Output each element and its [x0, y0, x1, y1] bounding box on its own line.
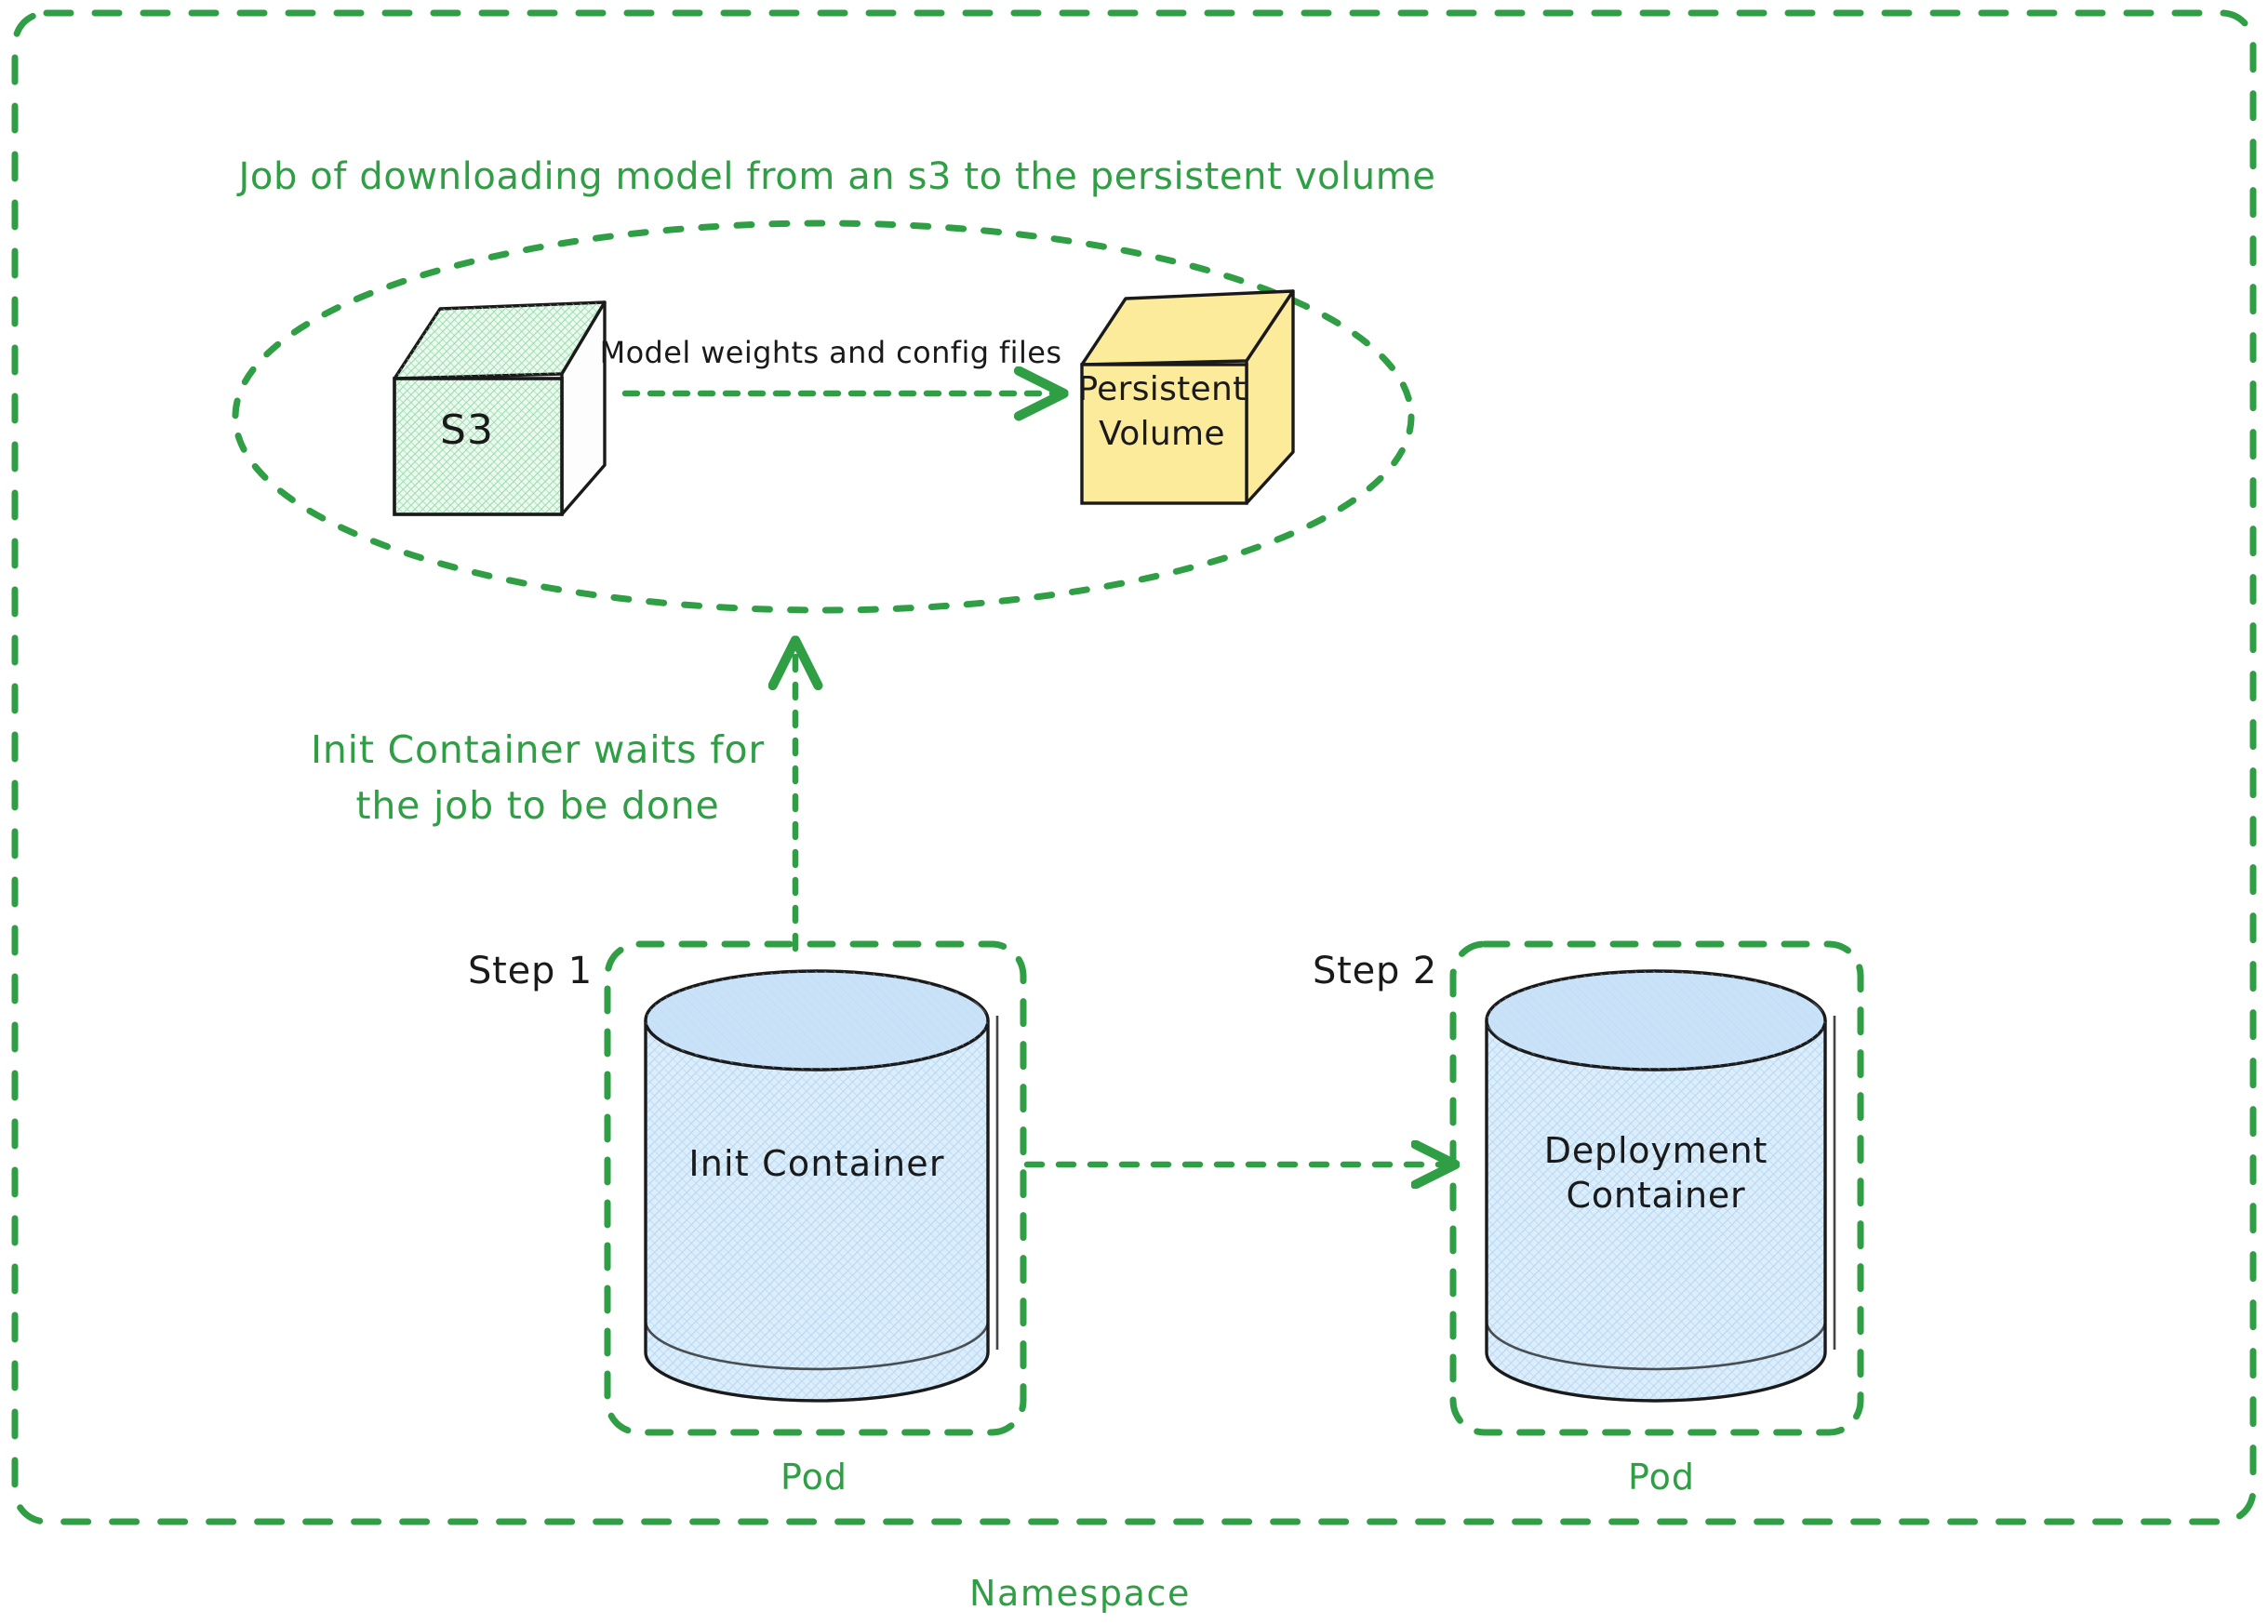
deployment-container-label-line2: Container — [1567, 1175, 1746, 1216]
init-container-cylinder[interactable]: Init Container — [646, 971, 997, 1401]
init-container-label: Init Container — [688, 1143, 944, 1184]
deployment-container-label-line1: Deployment — [1544, 1130, 1768, 1171]
pod-1-step-label: Step 1 — [468, 950, 593, 992]
namespace-label: Namespace — [969, 1573, 1191, 1614]
wait-edge-label-line1: Init Container waits for — [311, 727, 765, 772]
job-edge-label: Model weights and config files — [600, 335, 1062, 370]
pv-cube-label-line2: Volume — [1099, 415, 1225, 453]
job-group-title: Job of downloading model from an s3 to t… — [236, 155, 1436, 198]
pod-2-label: Pod — [1628, 1457, 1695, 1498]
deployment-container-top-hatch — [1487, 971, 1825, 1070]
init-container-top-hatch — [646, 971, 988, 1070]
deployment-container-cylinder[interactable]: Deployment Container — [1487, 971, 1834, 1401]
s3-cube-label: S3 — [440, 406, 494, 454]
pod-2-step-label: Step 2 — [1313, 950, 1437, 992]
s3-cube-node[interactable]: S3 — [394, 302, 605, 514]
init-container-body-hatch — [646, 1020, 988, 1401]
diagram-canvas: Namespace Job of downloading model from … — [0, 0, 2268, 1624]
wait-edge-label-line2: the job to be done — [355, 783, 719, 828]
pod-1-label: Pod — [780, 1457, 847, 1498]
architecture-diagram: Namespace Job of downloading model from … — [0, 0, 2268, 1624]
persistent-volume-cube-node[interactable]: Persistent Volume — [1077, 291, 1293, 503]
pv-cube-label-line1: Persistent — [1077, 370, 1246, 408]
